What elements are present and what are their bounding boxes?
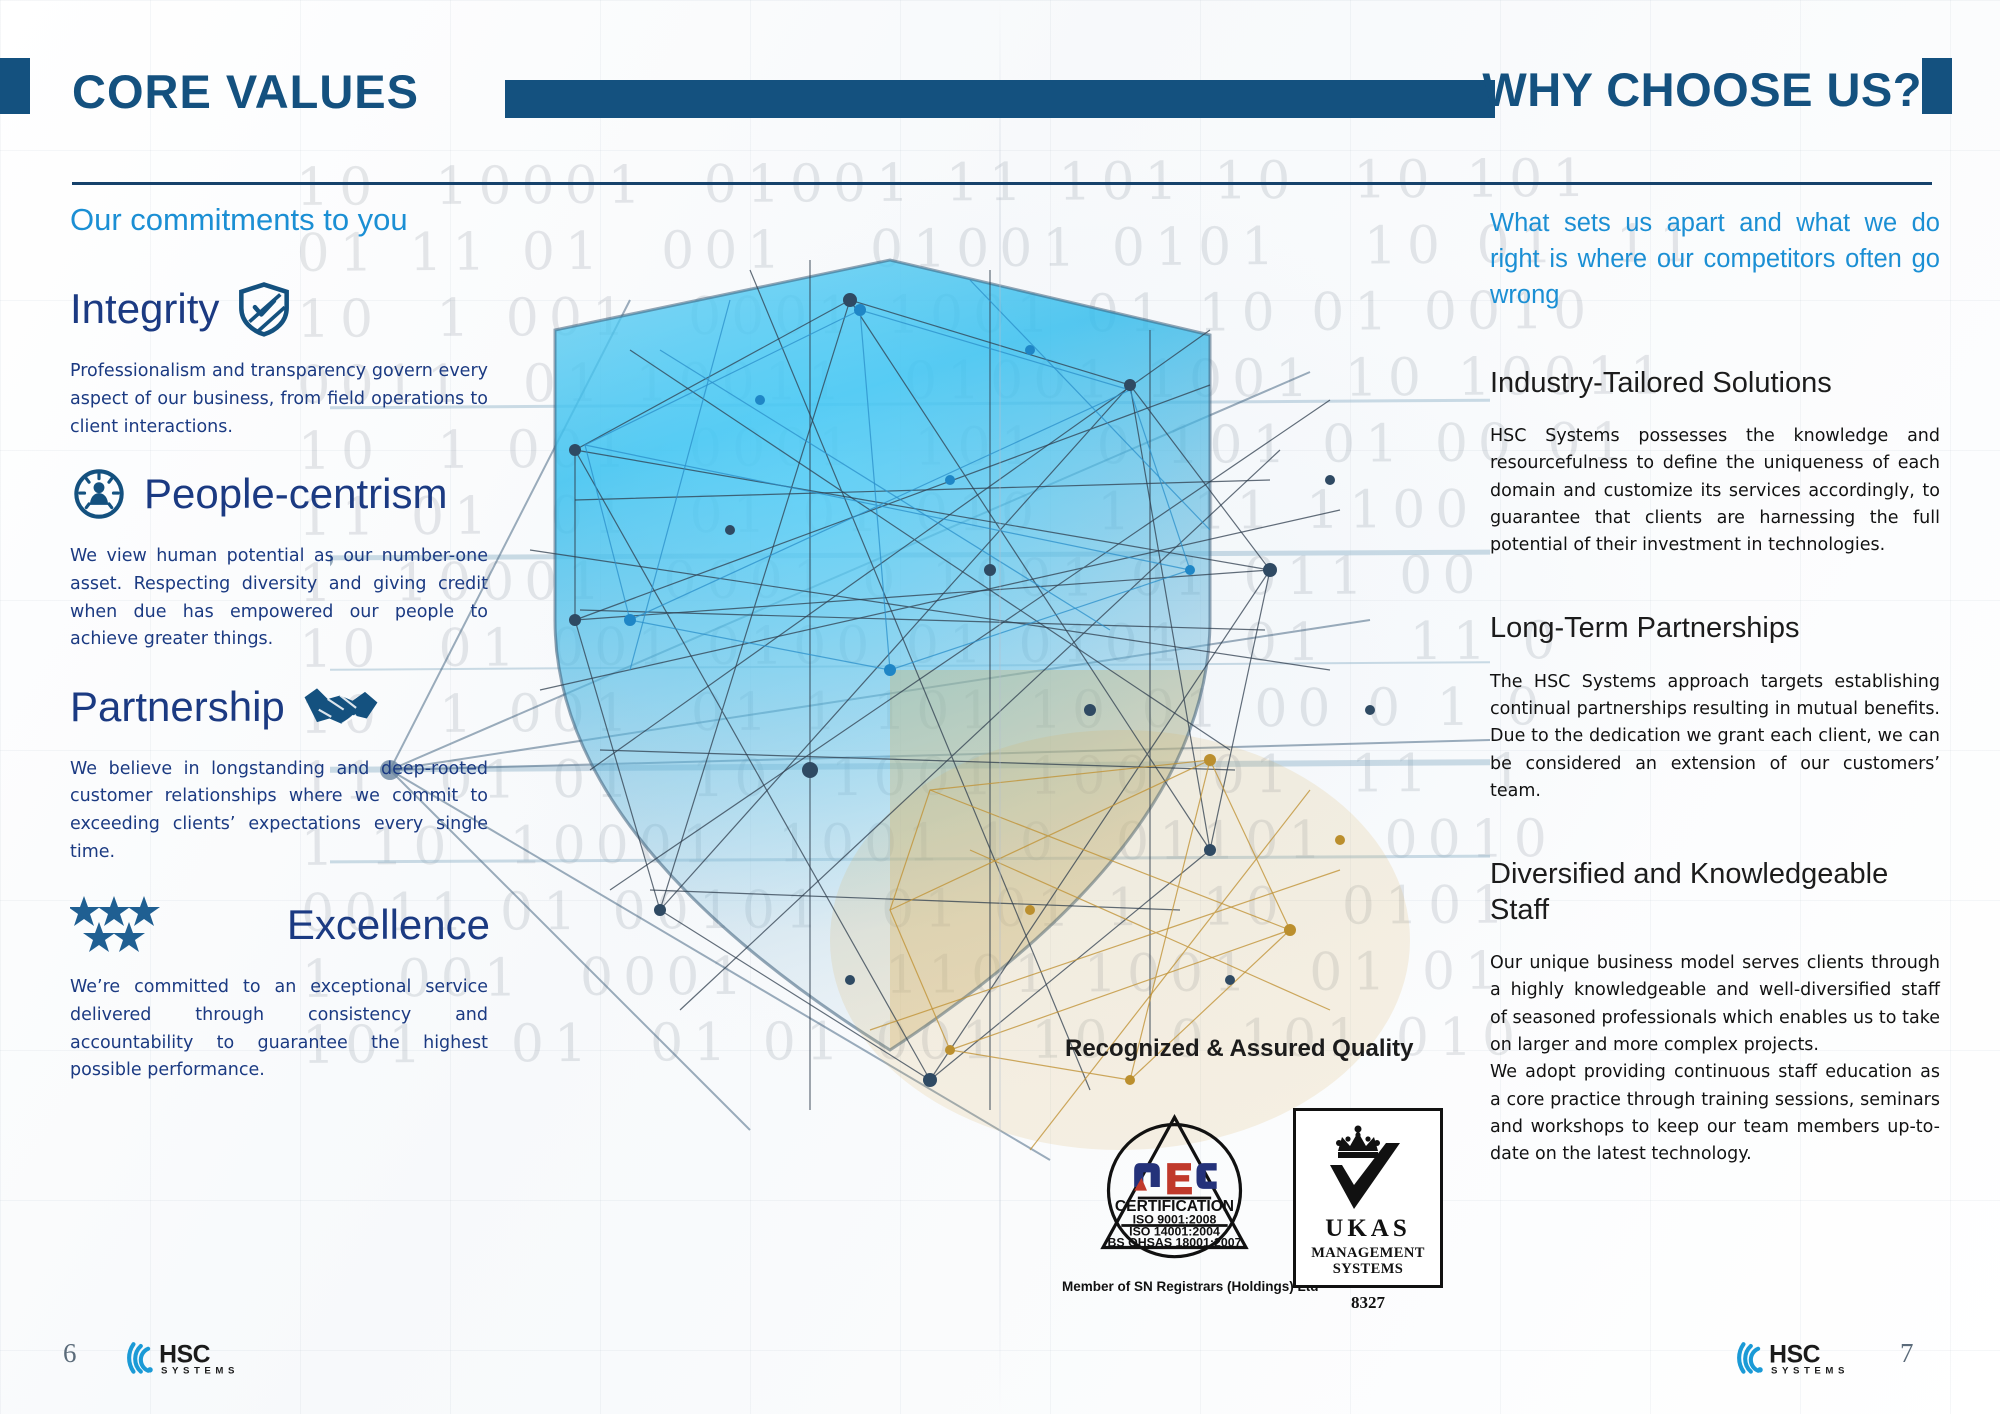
hsc-tagline: SYSTEMS [161,1366,239,1377]
value-body: We view human potential as our number-on… [70,543,488,654]
value-body: Professionalism and transparency govern … [70,358,488,441]
reason-block-diversified-staff: Diversified and Knowledgeable Staff Our … [1490,857,1940,1168]
header-right-square [1922,58,1952,114]
reason-body: The HSC Systems approach targets establi… [1490,669,1940,805]
value-item-integrity: Integrity Professionalism and transparen… [70,276,490,441]
svg-text:BS OHSAS 18001:2007: BS OHSAS 18001:2007 [1108,1236,1242,1250]
header-center-bar [505,80,1495,118]
header-left-square [0,58,30,114]
value-item-excellence: Excellence We’re committed to an excepti… [70,892,490,1085]
five-stars-icon [70,894,162,956]
value-title: Partnership [70,685,285,729]
value-body: We’re committed to an exceptional servic… [70,974,488,1085]
shield-check-icon [235,280,293,338]
value-title: People-centrism [144,472,447,516]
reason-heading: Diversified and Knowledgeable Staff [1490,857,1940,928]
hsc-tagline: SYSTEMS [1771,1366,1849,1377]
ukas-subtitle: MANAGEMENT SYSTEMS [1304,1245,1432,1277]
header-divider-rule [72,182,1932,185]
handshake-icon [301,676,381,738]
why-choose-us-column: What sets us apart and what we do right … [1490,205,1940,1214]
shield-network-artwork [330,150,1490,1180]
person-spotlight-icon [70,465,128,523]
reason-body: HSC Systems possesses the knowledge and … [1490,423,1940,559]
core-values-column: Our commitments to you Integrity Profess… [70,200,490,1105]
hsc-logo-left: HSC SYSTEMS [120,1335,268,1379]
value-body: We believe in longstanding and deep-root… [70,756,488,867]
reason-block-long-term-partnerships: Long-Term Partnerships The HSC Systems a… [1490,611,1940,805]
hsc-logo-right: HSC SYSTEMS [1730,1335,1878,1379]
page-seam [999,0,1001,1414]
nec-certification-logo: CERTIFICATION ISO 9001:2008 ISO 14001:20… [1062,1110,1287,1294]
ukas-wordmark: UKAS [1304,1215,1432,1243]
page-number-right: 7 [1900,1338,1914,1369]
ukas-number: 8327 [1293,1293,1443,1313]
reason-block-industry-tailored: Industry-Tailored Solutions HSC Systems … [1490,366,1940,560]
certification-caption: Recognized & Assured Quality [1065,1035,1485,1063]
reason-heading: Long-Term Partnerships [1490,611,1940,646]
core-values-kicker: Our commitments to you [70,200,490,240]
nec-footer-text: Member of SN Registrars (Holdings) Ltd [1062,1279,1287,1294]
value-item-people-centrism: People-centrism We view human potential … [70,461,490,654]
hsc-wordmark: HSC [1769,1342,1820,1369]
ukas-certification-logo: UKAS MANAGEMENT SYSTEMS 8327 [1293,1108,1443,1313]
reason-heading: Industry-Tailored Solutions [1490,366,1940,401]
why-choose-us-kicker: What sets us apart and what we do right … [1490,205,1940,314]
ukas-crown-tick-icon [1304,1121,1432,1213]
page-title-core-values: CORE VALUES [72,64,419,119]
hsc-wordmark: HSC [159,1342,210,1369]
page-title-why-choose-us: WHY CHOOSE US? [1482,62,1922,117]
value-title: Excellence [287,903,490,947]
value-title: Integrity [70,287,219,331]
value-item-partnership: Partnership We believe in longstanding a… [70,674,490,867]
brochure-spread: 10 10001 01001 11 101 10 10 101 01 11 01… [0,0,2000,1414]
page-number-left: 6 [63,1338,77,1369]
reason-body: Our unique business model serves clients… [1490,950,1940,1168]
